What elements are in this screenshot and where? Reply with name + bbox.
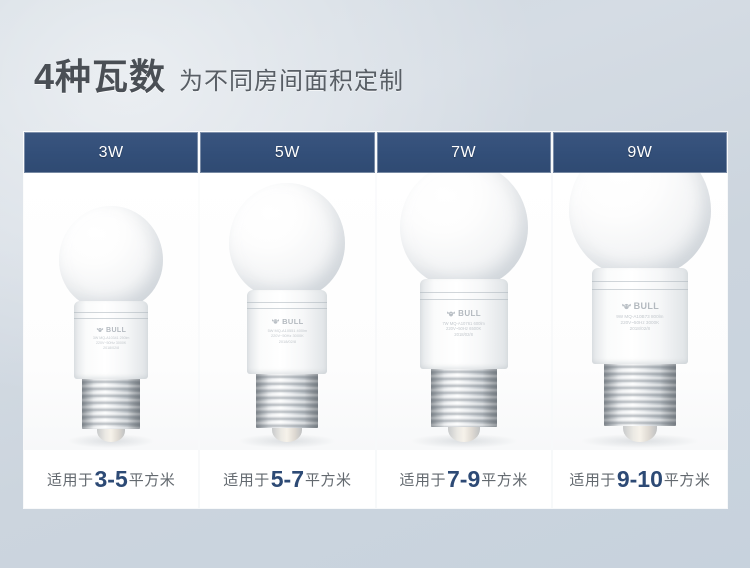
wattage-header: 3W [24, 132, 198, 173]
brand-lockup: BULL [446, 309, 481, 319]
bulb-spec-text: 5W MQ-A10551 400lm 220V~50Hz 3000K 2018/… [268, 328, 308, 343]
wattage-card[interactable]: 9W B [553, 132, 727, 508]
bulb-globe [569, 173, 711, 277]
neck-ring [74, 312, 148, 313]
light-bulb-illustration: BULL 9W MQ-A10B73 800lm 220V~50Hz 3000K … [569, 173, 711, 442]
bulb-spec-text: 3W MQ-A10341 250lm 220V~50Hz 3000K 2018/… [93, 336, 130, 350]
neck-ring [247, 308, 327, 309]
caption-suffix: 平方米 [664, 469, 711, 490]
spec-line: 2018/02/8 [268, 339, 308, 344]
bulb-globe [400, 173, 528, 288]
bulb-spec-text: 9W MQ-A10B73 800lm 220V~50Hz 3000K 2018/… [616, 314, 663, 332]
bulb-screw-base [431, 367, 497, 442]
wattage-card[interactable]: 3W B [24, 132, 198, 508]
neck-ring [420, 292, 508, 293]
spec-line: 220V~50Hz 3000K [93, 341, 130, 346]
bulb-globe [59, 206, 163, 310]
wattage-label: 3W [99, 144, 124, 162]
neck-ring [247, 302, 327, 303]
page-title-subtitle: 为不同房间面积定制 [179, 61, 404, 96]
brand-name: BULL [634, 301, 660, 311]
base-contact-tip [97, 428, 125, 442]
spec-line: 220V~50Hz 3000K [616, 320, 663, 326]
screw-threads [82, 377, 140, 429]
bulb-neck-label: BULL 7W MQ-A10761 600lm 220V~50Hz 6500K … [420, 279, 508, 369]
bulb-globe [229, 183, 345, 299]
caption-suffix: 平方米 [305, 469, 352, 490]
product-spec-infographic: 4种瓦数 为不同房间面积定制 3W [0, 0, 750, 568]
caption-range: 3-5 [94, 466, 129, 493]
light-bulb-illustration: BULL 5W MQ-A10551 400lm 220V~50Hz 3000K … [229, 183, 345, 442]
bulb-screw-base [82, 377, 140, 442]
neck-ring [592, 281, 688, 282]
light-bulb-illustration: BULL 7W MQ-A10761 600lm 220V~50Hz 6500K … [400, 173, 528, 442]
room-size-caption: 适用于 3-5 平方米 [24, 450, 198, 508]
page-title: 4种瓦数 为不同房间面积定制 [34, 48, 404, 100]
wattage-header: 9W [553, 132, 727, 173]
spec-line: 2018/02/8 [93, 346, 130, 351]
bulb-neck-label: BULL 3W MQ-A10341 250lm 220V~50Hz 3000K … [74, 301, 148, 379]
bulb-image-area: BULL 9W MQ-A10B73 800lm 220V~50Hz 3000K … [553, 173, 727, 450]
brand-lockup: BULL [621, 301, 660, 312]
caption-prefix: 适用于 [47, 469, 94, 490]
bull-logo-icon [96, 326, 104, 334]
caption-range: 7-9 [446, 466, 481, 493]
brand-name: BULL [458, 309, 481, 318]
caption-prefix: 适用于 [569, 469, 616, 490]
wattage-label: 7W [451, 144, 476, 162]
base-contact-tip [448, 426, 480, 442]
brand-name: BULL [282, 317, 304, 326]
room-size-caption: 适用于 7-9 平方米 [377, 450, 551, 508]
bull-logo-icon [621, 301, 632, 312]
bulb-spec-text: 7W MQ-A10761 600lm 220V~50Hz 6500K 2018/… [442, 321, 485, 338]
wattage-header: 5W [200, 132, 374, 173]
brand-lockup: BULL [96, 326, 126, 334]
wattage-card[interactable]: 7W B [377, 132, 551, 508]
page-title-emphasis: 4种瓦数 [34, 48, 166, 100]
neck-ring [74, 318, 148, 319]
room-size-caption: 适用于 9-10 平方米 [553, 450, 727, 508]
spec-line: 220V~50Hz 3000K [268, 333, 308, 338]
spec-line: 2018/02/8 [442, 332, 485, 338]
bulb-image-area: BULL 7W MQ-A10761 600lm 220V~50Hz 6500K … [377, 173, 551, 450]
base-contact-tip [623, 425, 657, 442]
bull-logo-icon [271, 317, 280, 326]
light-bulb-illustration: BULL 3W MQ-A10341 250lm 220V~50Hz 3000K … [59, 206, 163, 442]
wattage-card[interactable]: 5W B [200, 132, 374, 508]
spec-line: 9W MQ-A10B73 800lm [616, 314, 663, 320]
spec-line: 2018/02/8 [616, 326, 663, 332]
caption-suffix: 平方米 [481, 469, 528, 490]
bulb-screw-base [256, 372, 318, 442]
neck-ring [592, 289, 688, 290]
bull-logo-icon [446, 309, 456, 319]
screw-threads [431, 367, 497, 427]
wattage-label: 5W [275, 144, 300, 162]
brand-name: BULL [106, 327, 126, 334]
bulb-image-area: BULL 3W MQ-A10341 250lm 220V~50Hz 3000K … [24, 173, 198, 450]
screw-threads [604, 362, 676, 426]
caption-prefix: 适用于 [223, 469, 270, 490]
neck-ring [420, 299, 508, 300]
bulb-neck-label: BULL 5W MQ-A10551 400lm 220V~50Hz 3000K … [247, 290, 327, 374]
bulb-neck-label: BULL 9W MQ-A10B73 800lm 220V~50Hz 3000K … [592, 268, 688, 364]
screw-threads [256, 372, 318, 428]
wattage-label: 9W [627, 144, 652, 162]
caption-range: 9-10 [616, 466, 664, 493]
bulb-image-area: BULL 5W MQ-A10551 400lm 220V~50Hz 3000K … [200, 173, 374, 450]
base-contact-tip [272, 427, 302, 442]
wattage-card-grid: 3W B [24, 132, 727, 508]
room-size-caption: 适用于 5-7 平方米 [200, 450, 374, 508]
caption-prefix: 适用于 [399, 469, 446, 490]
caption-range: 5-7 [270, 466, 305, 493]
bulb-screw-base [604, 362, 676, 442]
wattage-header: 7W [377, 132, 551, 173]
caption-suffix: 平方米 [129, 469, 176, 490]
brand-lockup: BULL [271, 317, 304, 326]
